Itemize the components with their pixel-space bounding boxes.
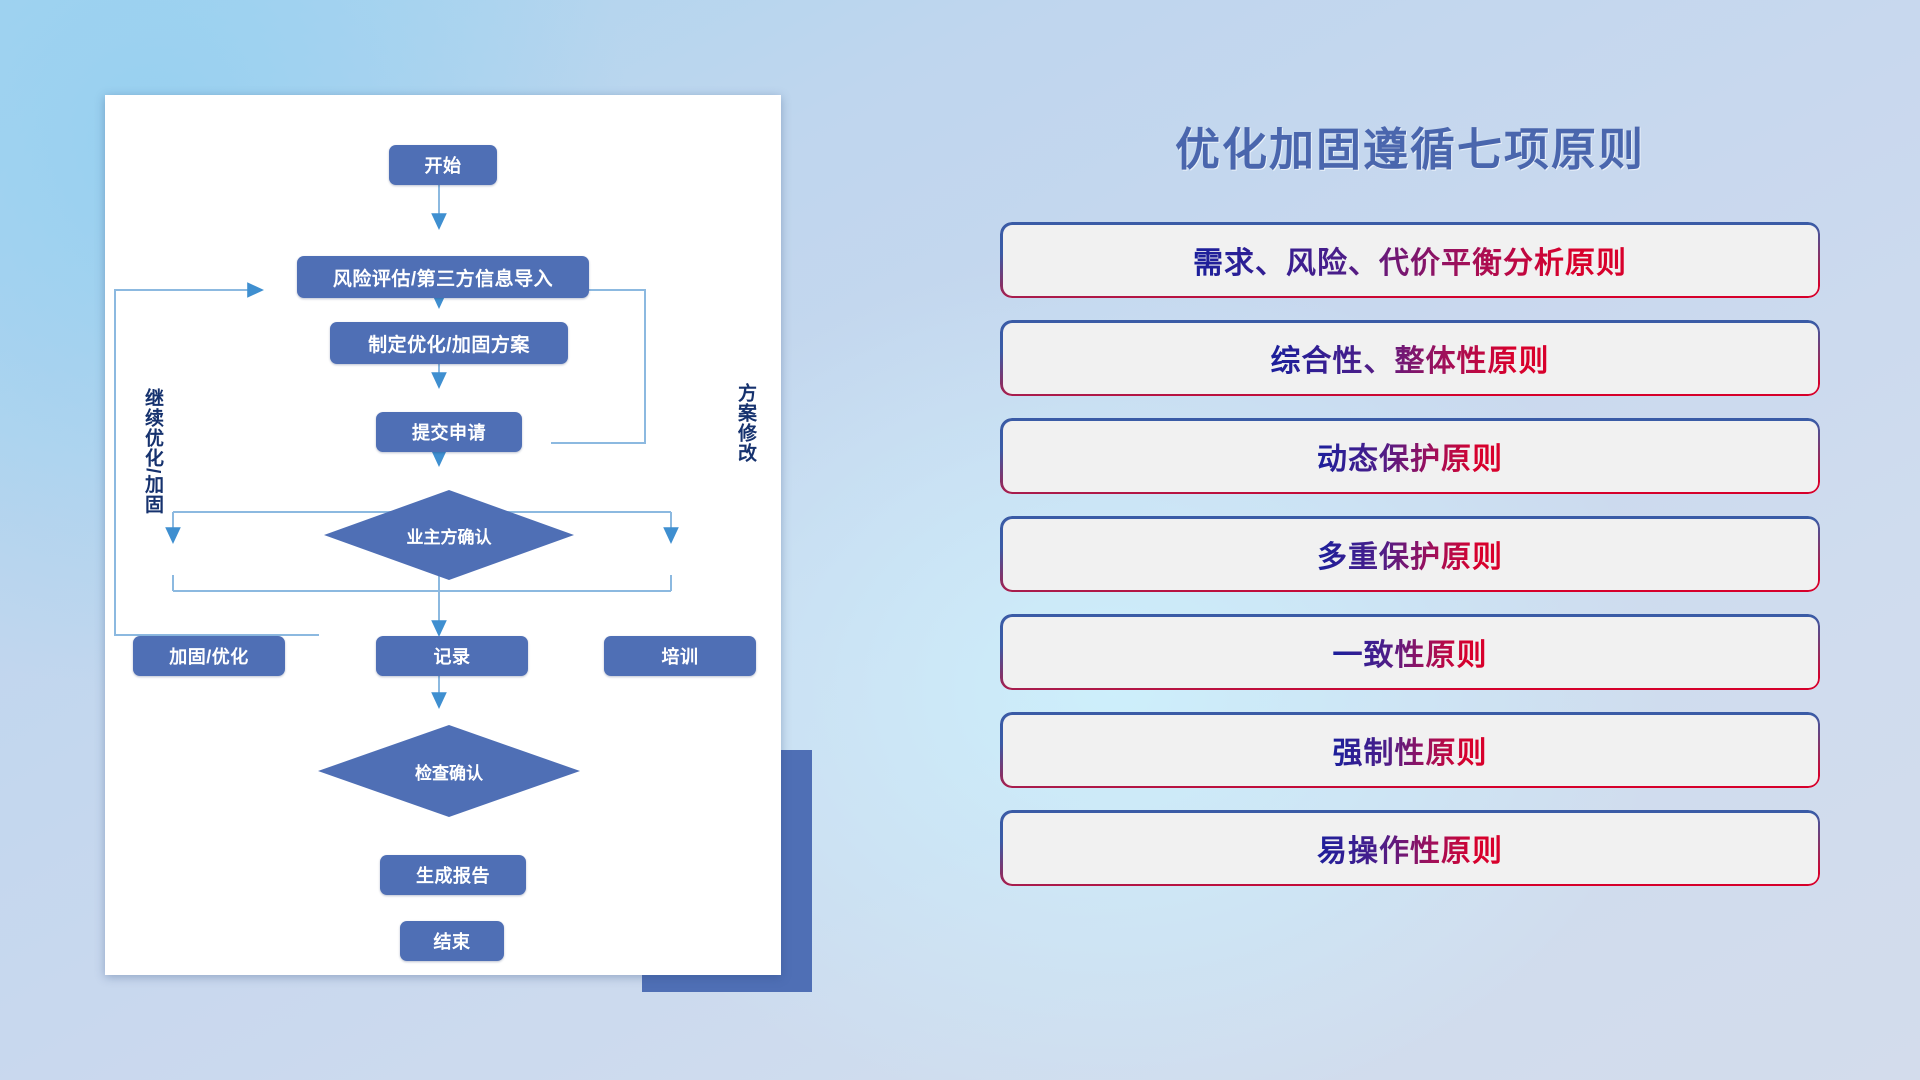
flow-node-owner-confirm[interactable]: 业主方确认 bbox=[324, 490, 574, 580]
flow-node-label: 生成报告 bbox=[416, 862, 490, 888]
principle-label: 多重保护原则 bbox=[1317, 532, 1503, 576]
flow-node-label: 结束 bbox=[434, 928, 471, 954]
flow-node-label: 加固/优化 bbox=[169, 643, 249, 669]
flow-node-submit[interactable]: 提交申请 bbox=[376, 412, 522, 452]
flow-node-label: 制定优化/加固方案 bbox=[368, 330, 530, 357]
flow-node-label: 开始 bbox=[425, 152, 462, 178]
flow-node-training[interactable]: 培训 bbox=[604, 636, 756, 676]
principle-card[interactable]: 动态保护原则 bbox=[1000, 418, 1820, 494]
flow-edge-label-continue-optimize: 继续优化/加固 bbox=[142, 388, 162, 514]
flow-node-label: 检查确认 bbox=[415, 759, 483, 784]
flow-node-label: 提交申请 bbox=[412, 419, 486, 445]
principle-card[interactable]: 强制性原则 bbox=[1000, 712, 1820, 788]
flow-node-report[interactable]: 生成报告 bbox=[380, 855, 526, 895]
flow-node-inspection-confirm[interactable]: 检查确认 bbox=[318, 725, 580, 817]
principle-label: 易操作性原则 bbox=[1317, 826, 1503, 870]
flow-node-label: 记录 bbox=[434, 643, 471, 669]
principles-pane: 优化加固遵循七项原则 需求、风险、代价平衡分析原则 综合性、整体性原则 动态保护… bbox=[1000, 95, 1820, 995]
flow-node-reinforce[interactable]: 加固/优化 bbox=[133, 636, 285, 676]
principles-title: 优化加固遵循七项原则 bbox=[1000, 113, 1820, 178]
principles-list: 需求、风险、代价平衡分析原则 综合性、整体性原则 动态保护原则 多重保护原则 一… bbox=[1000, 222, 1820, 886]
principle-card[interactable]: 易操作性原则 bbox=[1000, 810, 1820, 886]
flow-node-end[interactable]: 结束 bbox=[400, 921, 504, 961]
flow-node-plan[interactable]: 制定优化/加固方案 bbox=[330, 322, 568, 364]
principle-label: 需求、风险、代价平衡分析原则 bbox=[1193, 238, 1627, 282]
flow-node-start[interactable]: 开始 bbox=[389, 145, 497, 185]
flow-node-label: 业主方确认 bbox=[407, 523, 492, 548]
principle-card[interactable]: 需求、风险、代价平衡分析原则 bbox=[1000, 222, 1820, 298]
principle-label: 动态保护原则 bbox=[1317, 434, 1503, 478]
flow-node-record[interactable]: 记录 bbox=[376, 636, 528, 676]
principle-label: 强制性原则 bbox=[1333, 728, 1488, 772]
flow-node-risk-assessment[interactable]: 风险评估/第三方信息导入 bbox=[297, 256, 589, 298]
principle-card[interactable]: 一致性原则 bbox=[1000, 614, 1820, 690]
principle-label: 一致性原则 bbox=[1333, 630, 1488, 674]
principle-card[interactable]: 多重保护原则 bbox=[1000, 516, 1820, 592]
principle-label: 综合性、整体性原则 bbox=[1271, 336, 1550, 380]
flow-node-label: 风险评估/第三方信息导入 bbox=[333, 264, 553, 291]
principle-card[interactable]: 综合性、整体性原则 bbox=[1000, 320, 1820, 396]
flow-edge-label-plan-revision: 方案修改 bbox=[735, 383, 755, 463]
flow-node-label: 培训 bbox=[662, 643, 699, 669]
